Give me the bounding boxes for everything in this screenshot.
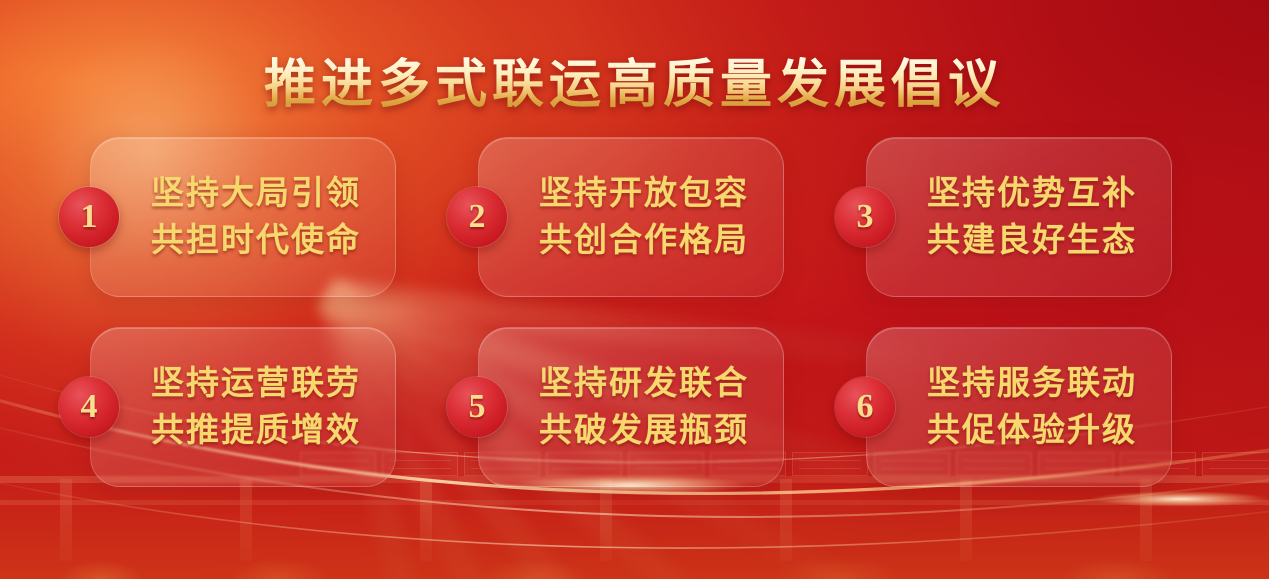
card-text-block: 坚持优势互补 共建良好生态 (901, 170, 1137, 264)
card-line-1: 坚持研发联合 (539, 360, 749, 407)
initiative-card-2[interactable]: 2 坚持开放包容 共创合作格局 (478, 137, 784, 297)
poster-title: 推进多式联运高质量发展倡议 (264, 57, 1005, 115)
initiative-card-4[interactable]: 4 坚持运营联劳 共推提质增效 (90, 327, 396, 487)
title-container: 推进多式联运高质量发展倡议 (0, 22, 1269, 150)
initiative-card-3[interactable]: 3 坚持优势互补 共建良好生态 (866, 137, 1172, 297)
card-number-label: 6 (857, 390, 874, 424)
card-text-block: 坚持运营联劳 共推提质增效 (125, 360, 361, 454)
card-line-2: 共创合作格局 (539, 217, 749, 264)
card-number-badge: 5 (447, 377, 507, 437)
card-number-badge: 3 (835, 187, 895, 247)
card-number-label: 2 (469, 200, 486, 234)
card-text-block: 坚持服务联动 共促体验升级 (901, 360, 1137, 454)
card-line-1: 坚持大局引领 (151, 170, 361, 217)
card-line-1: 坚持开放包容 (539, 170, 749, 217)
card-line-2: 共促体验升级 (927, 407, 1137, 454)
initiative-card-5[interactable]: 5 坚持研发联合 共破发展瓶颈 (478, 327, 784, 487)
card-text-block: 坚持大局引领 共担时代使命 (125, 170, 361, 264)
card-number-badge: 4 (59, 377, 119, 437)
card-number-badge: 1 (59, 187, 119, 247)
card-line-1: 坚持服务联动 (927, 360, 1137, 407)
card-line-2: 共破发展瓶颈 (539, 407, 749, 454)
initiative-card-grid: 1 坚持大局引领 共担时代使命 2 坚持开放包容 共创合作格局 3 坚持优势互补… (90, 137, 1172, 497)
card-line-2: 共担时代使命 (151, 217, 361, 264)
card-number-label: 3 (857, 200, 874, 234)
card-line-2: 共建良好生态 (927, 217, 1137, 264)
card-number-label: 5 (469, 390, 486, 424)
poster-canvas: 推进多式联运高质量发展倡议 1 坚持大局引领 共担时代使命 2 坚持开放包容 共… (0, 0, 1269, 579)
card-number-label: 1 (81, 200, 98, 234)
card-text-block: 坚持研发联合 共破发展瓶颈 (513, 360, 749, 454)
card-number-badge: 2 (447, 187, 507, 247)
card-number-badge: 6 (835, 377, 895, 437)
initiative-card-6[interactable]: 6 坚持服务联动 共促体验升级 (866, 327, 1172, 487)
card-line-1: 坚持优势互补 (927, 170, 1137, 217)
card-line-2: 共推提质增效 (151, 407, 361, 454)
initiative-card-1[interactable]: 1 坚持大局引领 共担时代使命 (90, 137, 396, 297)
card-text-block: 坚持开放包容 共创合作格局 (513, 170, 749, 264)
card-line-1: 坚持运营联劳 (151, 360, 361, 407)
card-number-label: 4 (81, 390, 98, 424)
